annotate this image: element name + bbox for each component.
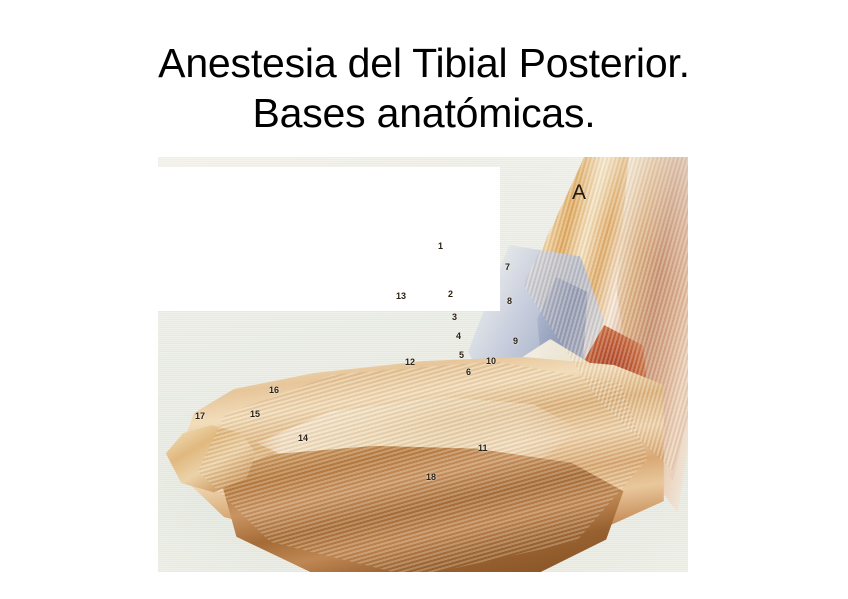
figure-label-18: 18 [426,473,436,482]
figure-label-2: 2 [448,290,453,299]
figure-label-10: 10 [486,357,496,366]
figure-label-12: 12 [405,358,415,367]
slide-title: Anestesia del Tibial Posterior. Bases an… [0,38,848,138]
figure-label-3: 3 [452,313,457,322]
figure-label-5: 5 [459,351,464,360]
figure-label-17: 17 [195,412,205,421]
figure-label-9: 9 [513,337,518,346]
title-line-1: Anestesia del Tibial Posterior. [0,38,848,88]
figure-label-13: 13 [396,292,406,301]
figure-label-15: 15 [250,410,260,419]
figure-label-4: 4 [456,332,461,341]
figure-label-8: 8 [507,297,512,306]
figure-label-7: 7 [505,263,510,272]
figure-label-1: 1 [438,242,443,251]
figure-label-14: 14 [298,434,308,443]
title-line-2: Bases anatómicas. [0,88,848,138]
figure-label-6: 6 [466,368,471,377]
figure-label-16: 16 [269,386,279,395]
figure-label-11: 11 [478,444,488,453]
figure-panel-letter: A [572,182,586,203]
anatomical-figure-image: A113278349510612161715141118 [158,157,688,572]
